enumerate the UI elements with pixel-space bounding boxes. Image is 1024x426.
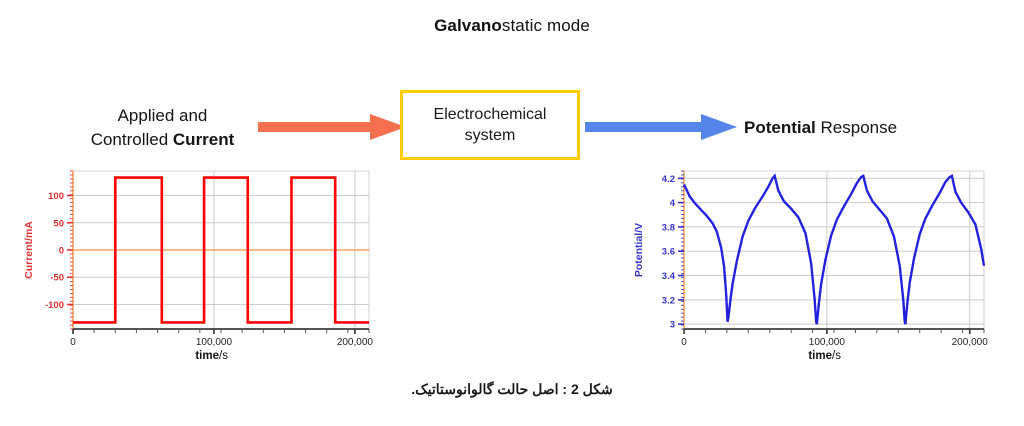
y-tick-label: -50: [50, 273, 64, 284]
potential-chart: 33.23.43.63.844.20100,000200,000time/sPo…: [628, 163, 988, 373]
y-tick-label: 4.2: [662, 174, 675, 185]
x-axis-title-unit: /s: [832, 350, 841, 362]
y-tick-label: 3.8: [662, 222, 675, 233]
electrochemical-system-box: Electrochemical system: [400, 90, 580, 160]
system-box-label: Electrochemical system: [403, 104, 577, 146]
page-title-bold: Galvano: [434, 16, 502, 35]
y-tick-label: 0: [59, 246, 64, 257]
x-tick-label: 200,000: [952, 337, 988, 348]
input-label-bold: Current: [173, 130, 234, 149]
y-tick-label: 3: [670, 320, 675, 331]
y-axis-title: Potential/V: [633, 223, 645, 277]
page-title: Galvanostatic mode: [0, 16, 1024, 36]
right-arrow-icon-blue: [585, 112, 737, 142]
y-tick-label: 3.2: [662, 295, 675, 306]
y-tick-label: 3.6: [662, 247, 675, 258]
right-arrow-icon-orange: [258, 112, 406, 142]
x-tick-label: 100,000: [809, 337, 846, 348]
x-tick-label: 0: [70, 337, 76, 348]
output-label-plain: Response: [816, 118, 897, 137]
potential-chart-canvas: 33.23.43.63.844.20100,000200,000time/sPo…: [628, 163, 988, 373]
y-tick-label: -100: [45, 300, 64, 311]
output-label: Potential Response: [744, 116, 897, 140]
x-tick-label: 100,000: [196, 337, 233, 348]
current-chart-canvas: -100-500501000100,000200,000time/sCurren…: [18, 163, 373, 373]
x-axis-title-bold: time: [808, 350, 832, 362]
y-tick-label: 50: [53, 218, 64, 229]
x-tick-label: 200,000: [337, 337, 373, 348]
y-tick-label: 100: [48, 191, 64, 202]
y-tick-label: 3.4: [662, 271, 676, 282]
x-tick-label: 0: [681, 337, 687, 348]
x-axis-title-bold: time: [195, 350, 219, 362]
output-label-bold: Potential: [744, 118, 816, 137]
input-label-line2: Controlled Current: [60, 128, 265, 152]
page-title-rest: static mode: [502, 16, 590, 35]
input-label: Applied and Controlled Current: [60, 104, 265, 152]
x-axis-title-unit: /s: [219, 350, 228, 362]
figure-caption: شكل 2 : اصل حالت گالوانوستاتیک.: [0, 381, 1024, 398]
y-axis-title: Current/mA: [23, 221, 35, 279]
input-label-line1: Applied and: [60, 104, 265, 128]
current-chart: -100-500501000100,000200,000time/sCurren…: [18, 163, 373, 373]
y-tick-label: 4: [670, 198, 676, 209]
input-label-plain: Controlled: [91, 130, 173, 149]
